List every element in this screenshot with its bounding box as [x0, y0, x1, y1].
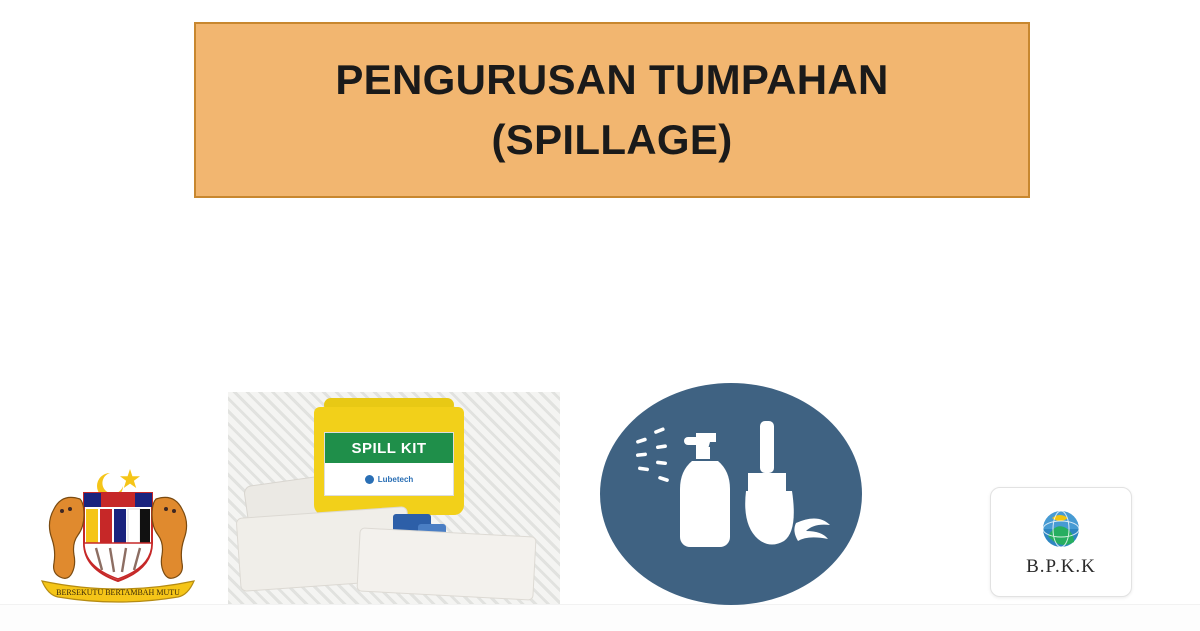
brand-dot-icon: [365, 475, 374, 484]
spill-kit-photo: SPILL KIT Lubetech: [228, 392, 560, 604]
spill-kit-label: SPILL KIT Lubetech: [324, 432, 454, 496]
page-title-line-1: PENGURUSAN TUMPAHAN: [335, 50, 888, 110]
bpkk-logo: B.P.K.K: [990, 487, 1132, 597]
absorbent-pad-right: [356, 527, 536, 600]
spray-and-mop-icon: [600, 383, 862, 605]
slide-canvas: PENGURUSAN TUMPAHAN (SPILLAGE): [0, 0, 1200, 630]
malaysia-coat-of-arms-icon: BERSEKUTU BERTAMBAH MUTU: [18, 455, 218, 607]
bpkk-logo-text: B.P.K.K: [1026, 556, 1096, 578]
spill-kit-label-text: SPILL KIT: [325, 433, 453, 463]
svg-text:BERSEKUTU BERTAMBAH MUTU: BERSEKUTU BERTAMBAH MUTU: [56, 588, 180, 597]
spill-kit-brand: Lubetech: [325, 463, 453, 495]
page-title-line-2: (SPILLAGE): [492, 110, 733, 170]
slide-title-box: PENGURUSAN TUMPAHAN (SPILLAGE): [194, 22, 1030, 198]
bpkk-globe-icon: [1038, 506, 1084, 552]
slide-bottom-band: [0, 604, 1200, 631]
spill-kit-brand-text: Lubetech: [378, 475, 414, 484]
